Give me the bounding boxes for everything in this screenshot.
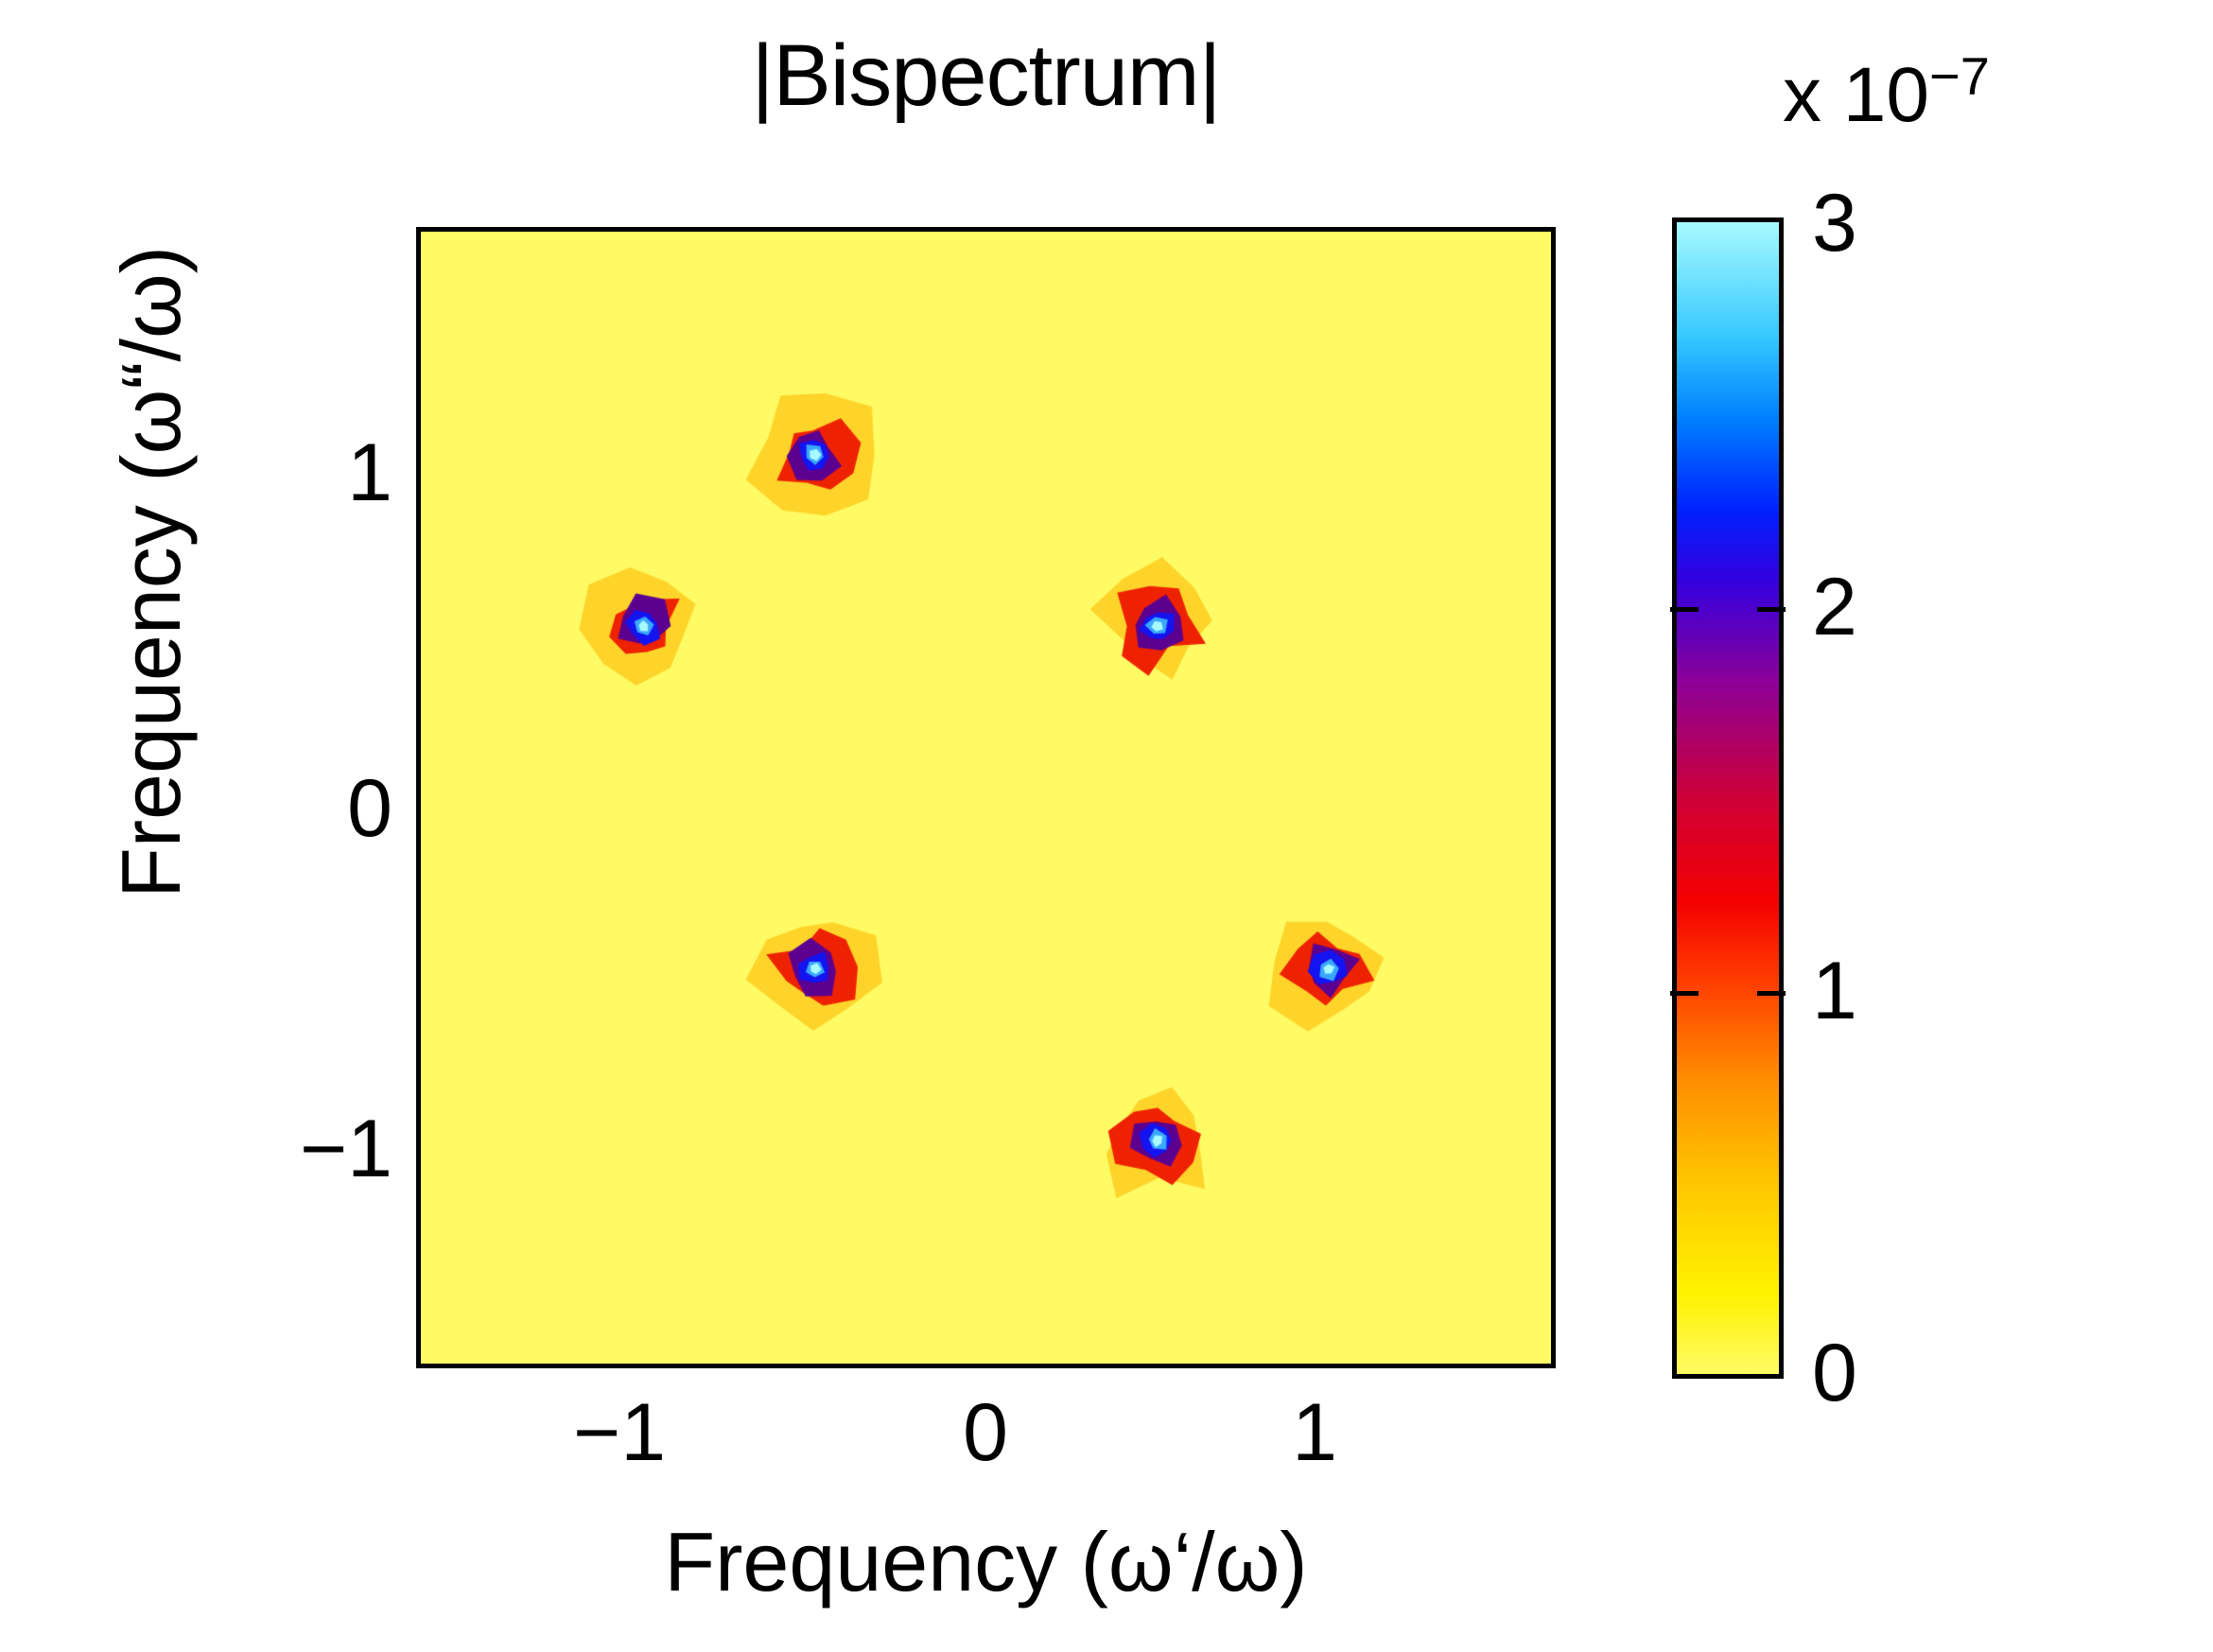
bispectrum-heatmap — [421, 232, 1551, 1364]
colorbar-tick-label-0: 0 — [1812, 1330, 1857, 1416]
bispectrum-figure: |Bispectrum| −1 0 1 1 0 −1 Frequency (ω‘… — [0, 0, 2213, 1652]
colorbar-tick-label-3: 3 — [1812, 181, 1857, 266]
x-tick-label-1: 1 — [1292, 1390, 1337, 1475]
colorbar-tick-2-right — [1757, 607, 1786, 612]
x-axis-label: Frequency (ω‘/ω) — [416, 1513, 1556, 1611]
colorbar-exponent-label: x 10−7 — [1783, 52, 1990, 139]
colorbar-tick-label-2: 2 — [1812, 565, 1857, 650]
colorbar-exponent-power: −7 — [1929, 46, 1990, 106]
colorbar[interactable]: 3 2 1 0 — [1672, 217, 1784, 1379]
y-tick-label-minus1: −1 — [300, 1106, 392, 1191]
colorbar-tick-1-left — [1670, 991, 1699, 996]
y-tick-label-1: 1 — [347, 430, 392, 515]
colorbar-exponent-base: x 10 — [1783, 52, 1929, 138]
page-title: |Bispectrum| — [416, 28, 1556, 123]
colorbar-gradient — [1672, 217, 1784, 1379]
x-tick-label-minus1: −1 — [573, 1390, 666, 1475]
heatmap-plot-area[interactable] — [416, 227, 1556, 1368]
colorbar-tick-2-left — [1670, 607, 1699, 612]
x-tick-label-0: 0 — [963, 1390, 1008, 1475]
y-axis-label: Frequency (ω“/ω) — [104, 99, 199, 1045]
colorbar-tick-1-right — [1757, 991, 1786, 996]
colorbar-tick-label-1: 1 — [1812, 948, 1857, 1034]
y-tick-label-0: 0 — [347, 766, 392, 851]
